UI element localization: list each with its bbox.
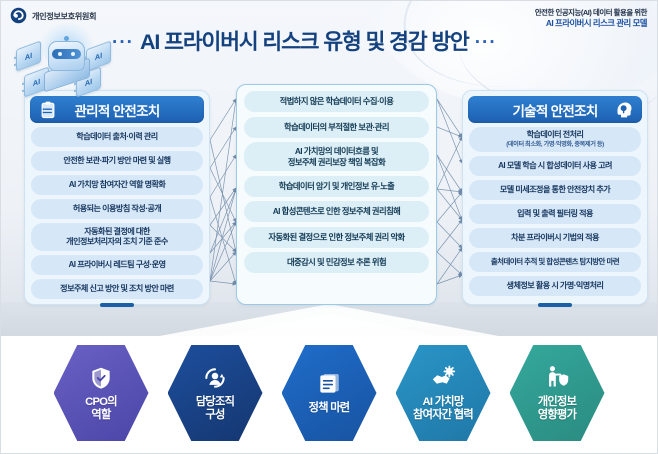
right-panel-header: 기술적 안전조치 xyxy=(468,96,642,123)
right-panel-title: 기술적 안전조치 xyxy=(512,100,597,120)
shield-icon xyxy=(87,364,115,392)
list-item: 입력 및 출력 필터링 적용 xyxy=(469,204,641,224)
list-item: 학습데이터 전처리 (데이터 최소화, 가명·익명화, 중복제거 등) xyxy=(469,127,641,152)
person-shield-icon xyxy=(543,364,571,392)
list-item: 자동화된 결정으로 인한 정보주체 권리 악화 xyxy=(244,227,429,248)
agency-logo: 개인정보보호위원회 xyxy=(10,7,96,24)
list-item-subtext: (데이터 최소화, 가명·익명화, 중복제거 등) xyxy=(506,141,604,149)
hexagon-label: 개인정보 영향평가 xyxy=(538,396,576,422)
upper-section: 개인정보보호위원회 안전한 인공지능(AI) 데이터 활용을 위한 AI 프라이… xyxy=(0,0,658,336)
center-panel-items: 적법하지 않은 학습데이터 수집·이용 학습데이터의 부적절한 보관·관리 AI… xyxy=(237,85,436,279)
ai-chip-icon: AI xyxy=(16,40,41,71)
hexagon-cpo-role[interactable]: CPO의 역할 xyxy=(54,343,149,443)
list-item: 허용되는 이용방침 작성·공개 xyxy=(31,199,203,219)
hexagon-privacy-impact-assessment[interactable]: 개인정보 영향평가 xyxy=(510,343,605,443)
hexagon-label: AI 가치망 참여자간 협력 xyxy=(413,396,473,422)
list-item: AI 가치망의 데이터흐름 및 정보주체 권리보장 책임 복잡화 xyxy=(244,142,429,171)
list-item: 생체정보 활용 시 가명·익명처리 xyxy=(469,276,641,296)
hexagon-row: CPO의 역할 담당조직 구성 xyxy=(0,340,658,446)
header-line-2: AI 프라이버시 리스크 관리 모델 xyxy=(535,18,647,29)
head-lightbulb-icon xyxy=(614,99,635,120)
right-panel-items: 학습데이터 전처리 (데이터 최소화, 가명·익명화, 중복제거 등) AI 모… xyxy=(463,127,647,303)
left-panel-title: 관리적 안전조치 xyxy=(74,100,159,120)
document-stack-icon xyxy=(315,370,343,398)
list-item: 정보주체 신고 방안 및 조치 방안 마련 xyxy=(31,279,203,299)
list-item: 학습데이터의 부적절한 보관·관리 xyxy=(244,117,429,138)
title-left-dots: ··· xyxy=(112,33,134,52)
list-item: AI 모델 학습 시 합성데이터 사용 고려 xyxy=(469,156,641,176)
left-panel-administrative-safeguards: 관리적 안전조치 학습데이터 출처·이력 관리 안전한 보관·파기 방안 마련 … xyxy=(24,90,210,305)
robot-antenna xyxy=(64,36,69,41)
robot-eye-right xyxy=(71,52,75,56)
list-item: 안전한 보관·파기 방안 마련 및 실행 xyxy=(31,151,203,171)
left-panel-items: 학습데이터 출처·이력 관리 안전한 보관·파기 방안 마련 및 실행 AI 가… xyxy=(25,127,209,306)
title-right-dots: ··· xyxy=(475,33,497,52)
agency-name: 개인정보보호위원회 xyxy=(32,10,96,22)
hexagon-org-composition[interactable]: 담당조직 구성 xyxy=(168,343,263,443)
left-panel-header: 관리적 안전조치 xyxy=(30,96,204,123)
list-item: 적법하지 않은 학습데이터 수집·이용 xyxy=(244,91,429,112)
list-item: 출처데이터 추적 및 합성콘텐츠 탐지방안 마련 xyxy=(469,252,641,272)
list-item: AI 합성콘텐츠로 인한 정보주체 권리침해 xyxy=(244,201,429,222)
list-item: 학습데이터 암기 및 개인정보 유·노출 xyxy=(244,176,429,197)
ai-robot-chip-mascot-icon: AI AI AI AI xyxy=(14,23,118,93)
list-item: 차분 프라이버시 기법의 적용 xyxy=(469,228,641,248)
chevron-arrow-small xyxy=(211,314,447,336)
hexagon-value-chain-cooperation[interactable]: AI 가치망 참여자간 협력 xyxy=(396,343,491,443)
robot-eye-left xyxy=(58,52,62,56)
main-title-group: ··· AI 프라이버시 리스크 유형 및 경감 방안 ··· xyxy=(112,32,497,54)
list-item: AI 가치망 참여자간 역할 명확화 xyxy=(31,175,203,195)
clipboard-checklist-icon xyxy=(37,99,58,120)
robot-visor xyxy=(52,49,81,59)
header-caption: 안전한 인공지능(AI) 데이터 활용을 위한 AI 프라이버시 리스크 관리 … xyxy=(535,8,647,29)
header-line-1: 안전한 인공지능(AI) 데이터 활용을 위한 xyxy=(535,8,647,18)
page-title: AI 프라이버시 리스크 유형 및 경감 방안 xyxy=(140,32,469,54)
list-item: 대중감시 및 민감정보 추론 위험 xyxy=(244,252,429,273)
hexagon-label: 담당조직 구성 xyxy=(196,396,234,422)
lower-section: CPO의 역할 담당조직 구성 xyxy=(0,336,658,454)
user-cycle-icon xyxy=(201,364,229,392)
hexagon-label: 정책 마련 xyxy=(309,402,350,415)
right-panel-technical-safeguards: 기술적 안전조치 학습데이터 전처리 (데이터 최소화, 가명·익명화, 중복제… xyxy=(462,90,648,305)
infographic-poster: 개인정보보호위원회 안전한 인공지능(AI) 데이터 활용을 위한 AI 프라이… xyxy=(0,0,658,454)
list-item: 모델 미세조정을 통한 안전장치 추가 xyxy=(469,180,641,200)
hexagon-label: CPO의 역할 xyxy=(85,396,117,422)
list-item: 학습데이터 출처·이력 관리 xyxy=(31,127,203,147)
handshake-gear-icon xyxy=(429,364,457,392)
list-item: AI 프라이버시 레드팀 구성·운영 xyxy=(31,255,203,275)
taegeuk-swirl-logo-icon xyxy=(10,7,27,24)
list-item-text: 학습데이터 전처리 xyxy=(527,130,584,140)
hexagon-policy[interactable]: 정책 마련 xyxy=(282,343,377,443)
list-item: 자동화된 결정에 대한 개인정보처리자의 조치 기준 준수 xyxy=(31,223,203,251)
center-panel-risk-types: 적법하지 않은 학습데이터 수집·이용 학습데이터의 부적절한 보관·관리 AI… xyxy=(236,84,437,305)
